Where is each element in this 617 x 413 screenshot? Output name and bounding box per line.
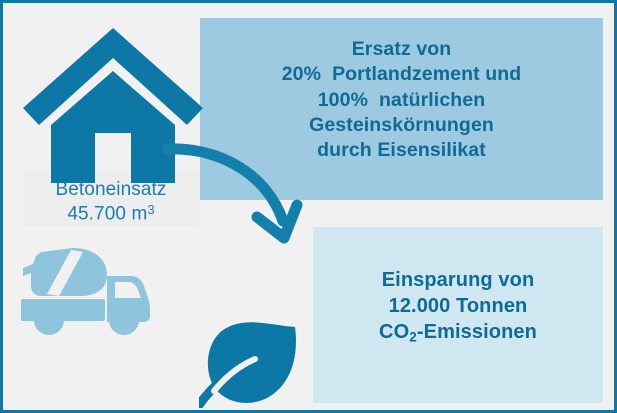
savings-co2-subscript: 2: [409, 329, 417, 344]
savings-line-2: 12.000 Tonnen: [313, 293, 603, 319]
house-icon: [23, 28, 203, 183]
savings-co2-suffix: -Emissionen: [417, 321, 537, 343]
concrete-usage-unit-exponent: 3: [147, 202, 154, 217]
concrete-usage-text: Betoneinsatz 45.700 m3: [23, 178, 199, 226]
replacement-line-1: Ersatz von: [200, 37, 603, 62]
replacement-line-3: 100% natürlichen: [200, 88, 603, 113]
savings-panel-text: Einsparung von 12.000 Tonnen CO2-Emissio…: [313, 267, 603, 346]
replacement-panel: Ersatz von 20% Portlandzement und 100% n…: [200, 18, 603, 200]
savings-line-1: Einsparung von: [313, 267, 603, 293]
concrete-usage-label-box: Betoneinsatz 45.700 m3: [23, 171, 199, 226]
savings-co2-prefix: CO: [379, 321, 409, 343]
replacement-line-4: Gesteinskörnungen: [200, 113, 603, 138]
savings-line-3: CO2-Emissionen: [313, 319, 603, 346]
replacement-panel-text: Ersatz von 20% Portlandzement und 100% n…: [200, 37, 603, 164]
savings-panel: Einsparung von 12.000 Tonnen CO2-Emissio…: [313, 227, 603, 403]
replacement-line-5: durch Eisensilikat: [200, 138, 603, 163]
infographic-canvas: Ersatz von 20% Portlandzement und 100% n…: [0, 0, 617, 413]
concrete-usage-number: 45.700: [67, 203, 126, 224]
concrete-usage-title: Betoneinsatz: [23, 178, 199, 202]
replacement-line-2: 20% Portlandzement und: [200, 62, 603, 87]
concrete-usage-unit: m: [131, 203, 147, 224]
leaf-icon: [199, 313, 303, 408]
concrete-usage-value: 45.700 m3: [23, 202, 199, 226]
cement-mixer-truck-icon: [11, 246, 151, 336]
